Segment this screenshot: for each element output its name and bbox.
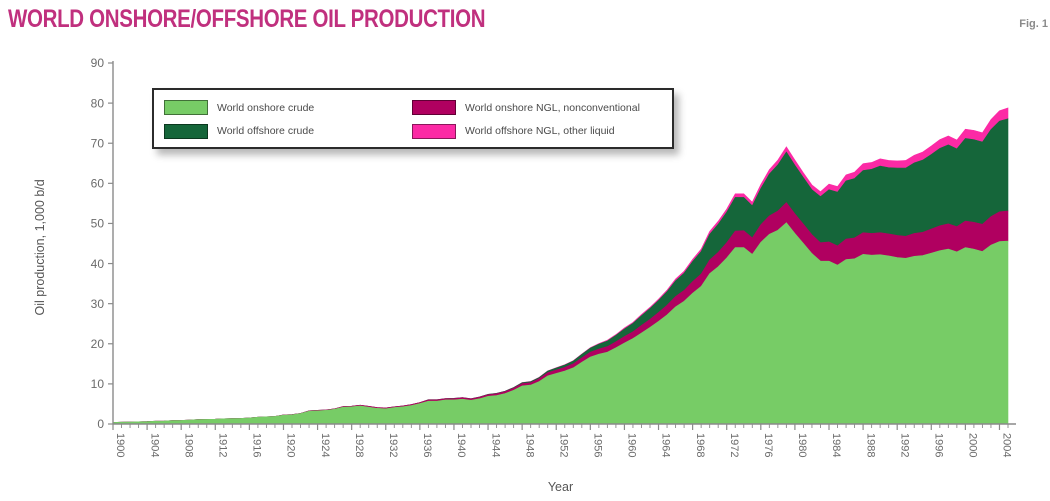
- legend-label-offshore_ngl: World offshore NGL, other liquid: [465, 125, 615, 137]
- y-tick-label-10: 10: [91, 377, 105, 391]
- x-tick-label-1960: 1960: [626, 433, 638, 457]
- x-tick-label-1988: 1988: [864, 433, 876, 457]
- x-tick-label-1996: 1996: [932, 433, 944, 457]
- figure-container: World onshore/offshore oil production Fi…: [0, 0, 1050, 501]
- x-tick-label-1916: 1916: [251, 433, 263, 457]
- y-tick-label-90: 90: [91, 56, 105, 70]
- x-tick-label-1900: 1900: [114, 433, 126, 457]
- x-tick-label-1956: 1956: [592, 433, 604, 457]
- x-tick-label-1944: 1944: [489, 433, 501, 457]
- x-tick-label-1952: 1952: [557, 433, 569, 457]
- legend-label-offshore_crude: World offshore crude: [217, 125, 314, 137]
- legend-item-offshore_crude[interactable]: World offshore crude: [164, 124, 412, 139]
- x-tick-label-1940: 1940: [455, 433, 467, 457]
- legend-swatch-offshore_crude: [164, 124, 208, 139]
- x-tick-label-1924: 1924: [319, 433, 331, 457]
- x-tick-label-2004: 2004: [1001, 433, 1013, 457]
- chart-plot-area: 0102030405060708090190019041908191219161…: [0, 0, 1050, 501]
- chart-legend: World onshore crudeWorld onshore NGL, no…: [152, 88, 674, 149]
- x-tick-label-1932: 1932: [387, 433, 399, 457]
- x-tick-label-1908: 1908: [182, 433, 194, 457]
- y-tick-label-0: 0: [97, 417, 104, 431]
- legend-item-offshore_ngl[interactable]: World offshore NGL, other liquid: [412, 124, 666, 139]
- y-tick-label-50: 50: [91, 217, 105, 231]
- y-tick-label-30: 30: [91, 297, 105, 311]
- y-tick-label-80: 80: [91, 96, 105, 110]
- x-tick-label-1904: 1904: [148, 433, 160, 457]
- x-tick-label-1976: 1976: [762, 433, 774, 457]
- legend-label-onshore_crude: World onshore crude: [217, 102, 314, 114]
- x-tick-label-1936: 1936: [421, 433, 433, 457]
- x-tick-label-1984: 1984: [830, 433, 842, 457]
- x-tick-label-1972: 1972: [728, 433, 740, 457]
- x-tick-label-1928: 1928: [353, 433, 365, 457]
- y-tick-label-40: 40: [91, 257, 105, 271]
- legend-swatch-offshore_ngl: [412, 124, 456, 139]
- x-tick-label-1980: 1980: [796, 433, 808, 457]
- x-tick-label-1920: 1920: [285, 433, 297, 457]
- y-tick-label-60: 60: [91, 177, 105, 191]
- legend-item-onshore_crude[interactable]: World onshore crude: [164, 100, 412, 115]
- x-tick-label-1948: 1948: [523, 433, 535, 457]
- x-tick-label-2000: 2000: [967, 433, 979, 457]
- x-axis-title: Year: [548, 480, 573, 494]
- y-axis-title: Oil production, 1,000 b/d: [33, 179, 47, 315]
- legend-label-onshore_ngl: World onshore NGL, nonconventional: [465, 102, 640, 114]
- legend-swatch-onshore_ngl: [412, 100, 456, 115]
- oil-production-area-chart: 0102030405060708090190019041908191219161…: [0, 0, 1050, 501]
- y-tick-label-70: 70: [91, 136, 105, 150]
- x-tick-label-1912: 1912: [216, 433, 228, 457]
- legend-swatch-onshore_crude: [164, 100, 208, 115]
- x-tick-label-1968: 1968: [694, 433, 706, 457]
- x-tick-label-1992: 1992: [898, 433, 910, 457]
- x-tick-label-1964: 1964: [660, 433, 672, 457]
- legend-item-onshore_ngl[interactable]: World onshore NGL, nonconventional: [412, 100, 666, 115]
- y-tick-label-20: 20: [91, 337, 105, 351]
